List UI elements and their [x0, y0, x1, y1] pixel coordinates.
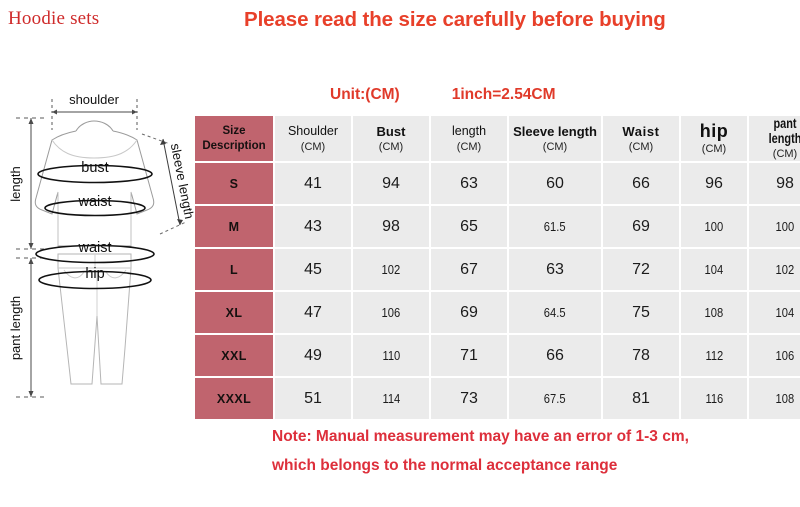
column-header-shoulder: Shoulder (CM): [275, 116, 351, 161]
cell-waist: 81: [603, 378, 679, 419]
column-header-sleeve-length: Sleeve length (CM): [509, 116, 601, 161]
cell-size: XL: [195, 292, 273, 333]
cell-hip: 116: [681, 378, 747, 419]
cell-bust: 114: [353, 378, 429, 419]
diagram-label-length: length: [8, 166, 23, 201]
inch-conversion-label: 1inch=2.54CM: [452, 86, 556, 104]
cell-pant: 100: [749, 206, 800, 247]
unit-label: Unit:(CM): [330, 86, 400, 104]
column-header-pant-length: pant length (CM): [749, 116, 800, 161]
cell-sleeve: 67.5: [509, 378, 601, 419]
table-row: XL 47 106 69 64.5 75 108 104: [195, 292, 800, 333]
table-row: XXL 49 110 71 66 78 112 106: [195, 335, 800, 376]
cell-bust: 106: [353, 292, 429, 333]
table-row: L 45 102 67 63 72 104 102: [195, 249, 800, 290]
cell-hip: 96: [681, 163, 747, 204]
cell-length: 63: [431, 163, 507, 204]
cell-waist: 78: [603, 335, 679, 376]
cell-sleeve: 61.5: [509, 206, 601, 247]
cell-sleeve: 64.5: [509, 292, 601, 333]
cell-hip: 104: [681, 249, 747, 290]
diagram-label-shoulder: shoulder: [69, 92, 120, 107]
size-chart-page: Hoodie sets Please read the size careful…: [0, 0, 800, 507]
cell-shoulder: 45: [275, 249, 351, 290]
cell-length: 71: [431, 335, 507, 376]
cell-shoulder: 51: [275, 378, 351, 419]
garment-measurement-diagram: shoulder bust waist waist hip length pan…: [0, 86, 196, 416]
cell-pant: 104: [749, 292, 800, 333]
unit-info-row: Unit:(CM) 1inch=2.54CM: [330, 86, 556, 104]
cell-shoulder: 41: [275, 163, 351, 204]
cell-size: L: [195, 249, 273, 290]
cell-shoulder: 47: [275, 292, 351, 333]
cell-sleeve: 66: [509, 335, 601, 376]
table-row: M 43 98 65 61.5 69 100 100: [195, 206, 800, 247]
cell-length: 69: [431, 292, 507, 333]
cell-waist: 75: [603, 292, 679, 333]
brand-title: Hoodie sets: [8, 8, 99, 30]
table-row: XXXL 51 114 73 67.5 81 116 108: [195, 378, 800, 419]
column-header-bust: Bust (CM): [353, 116, 429, 161]
cell-pant: 102: [749, 249, 800, 290]
cell-sleeve: 63: [509, 249, 601, 290]
diagram-label-waist-bottom: waist: [77, 240, 111, 256]
cell-length: 67: [431, 249, 507, 290]
column-header-hip: hip (CM): [681, 116, 747, 161]
note-line-1: Note: Manual measurement may have an err…: [272, 422, 689, 451]
cell-bust: 98: [353, 206, 429, 247]
cell-length: 65: [431, 206, 507, 247]
cell-shoulder: 43: [275, 206, 351, 247]
cell-bust: 110: [353, 335, 429, 376]
cell-pant: 98: [749, 163, 800, 204]
column-header-size: Size Description: [195, 116, 273, 161]
cell-shoulder: 49: [275, 335, 351, 376]
cell-pant: 108: [749, 378, 800, 419]
column-header-waist: Waist (CM): [603, 116, 679, 161]
diagram-label-sleeve-length: sleeve length: [168, 142, 196, 220]
cell-size: S: [195, 163, 273, 204]
cell-size: M: [195, 206, 273, 247]
page-title: Please read the size carefully before bu…: [244, 8, 666, 32]
cell-waist: 69: [603, 206, 679, 247]
note-line-2: which belongs to the normal acceptance r…: [272, 451, 689, 480]
size-chart-table: Size Description Shoulder (CM) Bust (CM)…: [193, 114, 800, 421]
diagram-label-hip: hip: [85, 266, 104, 282]
cell-size: XXXL: [195, 378, 273, 419]
cell-size: XXL: [195, 335, 273, 376]
measurement-note: Note: Manual measurement may have an err…: [272, 422, 689, 480]
cell-hip: 108: [681, 292, 747, 333]
cell-bust: 102: [353, 249, 429, 290]
cell-hip: 100: [681, 206, 747, 247]
cell-pant: 106: [749, 335, 800, 376]
diagram-label-bust: bust: [81, 160, 108, 176]
table-row: S 41 94 63 60 66 96 98: [195, 163, 800, 204]
cell-length: 73: [431, 378, 507, 419]
cell-waist: 66: [603, 163, 679, 204]
column-header-length: length (CM): [431, 116, 507, 161]
cell-sleeve: 60: [509, 163, 601, 204]
diagram-label-pant-length: pant length: [8, 296, 23, 360]
cell-bust: 94: [353, 163, 429, 204]
cell-waist: 72: [603, 249, 679, 290]
table-header-row: Size Description Shoulder (CM) Bust (CM)…: [195, 116, 800, 161]
diagram-label-waist-top: waist: [77, 194, 111, 210]
cell-hip: 112: [681, 335, 747, 376]
